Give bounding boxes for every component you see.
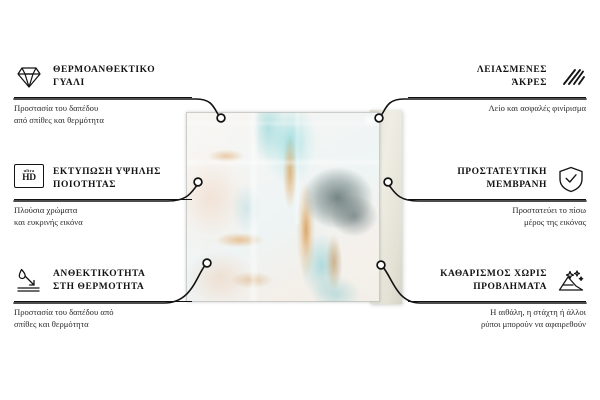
feature-description: Προστασία του δαπέδου από σπίθες και θερ… xyxy=(14,306,192,331)
desc-line-2: μέρος της εικόνας xyxy=(524,217,586,227)
connector-dot xyxy=(377,261,385,269)
title-line-1: ΘΕΡΜΟΑΝΘΕΚΤΙΚΟ xyxy=(53,65,155,75)
desc-line-1: Προστατεύει το πίσω xyxy=(512,205,586,215)
desc-line-2: σπίθες και θερμότητα xyxy=(14,319,89,329)
feature-title: ΛΕΙΑΣΜΕΝΕΣ ΆΚΡΕΣ xyxy=(477,64,547,91)
infographic-canvas: ΘΕΡΜΟΑΝΘΕΚΤΙΚΟ ΓΥΑΛΙ Προστασία του δαπέδ… xyxy=(0,0,600,400)
divider xyxy=(408,199,586,200)
divider xyxy=(408,97,586,98)
feature-high-quality-print: ultra HD ΕΚΤΥΠΩΣΗ ΥΨΗΛΗΣ ΠΟΙΟΤΗΤΑΣ Πλούσ… xyxy=(14,164,192,229)
title-line-2: ΆΚΡΕΣ xyxy=(512,78,547,88)
title-line-1: ΑΝΘΕΚΤΙΚΟΤΗΤΑ xyxy=(53,269,145,279)
feature-header: ΛΕΙΑΣΜΕΝΕΣ ΆΚΡΕΣ xyxy=(408,62,586,92)
feature-header: ΠΡΟΣΤΑΤΕΥΤΙΚΗ ΜΕΜΒΡΑΝΗ xyxy=(408,164,586,194)
title-line-1: ΠΡΟΣΤΑΤΕΥΤΙΚΗ xyxy=(457,167,547,177)
connector-dot xyxy=(375,114,383,122)
divider xyxy=(14,199,192,200)
title-line-2: ΣΤΗ ΘΕΡΜΟΤΗΤΑ xyxy=(53,282,144,292)
easy-cleaning-icon xyxy=(556,266,586,296)
feature-header: ΘΕΡΜΟΑΝΘΕΚΤΙΚΟ ΓΥΑΛΙ xyxy=(14,62,192,92)
polished-edges-icon xyxy=(556,62,586,92)
connector-dot xyxy=(384,178,392,186)
divider xyxy=(14,97,192,98)
title-line-1: ΚΑΘΑΡΙΣΜΟΣ ΧΩΡΙΣ xyxy=(440,269,547,279)
feature-description: Η αιθάλη, η στάχτη ή άλλοι ρύποι μπορούν… xyxy=(408,306,586,331)
title-line-2: ΜΕΜΒΡΑΝΗ xyxy=(486,180,547,190)
desc-line-1: Προστασία του δαπέδου από xyxy=(14,307,114,317)
feature-heat-resistance: ΑΝΘΕΚΤΙΚΟΤΗΤΑ ΣΤΗ ΘΕΡΜΟΤΗΤΑ Προστασία το… xyxy=(14,266,192,331)
diamond-icon xyxy=(14,62,44,92)
title-line-2: ΓΥΑΛΙ xyxy=(53,78,85,88)
feature-header: ΑΝΘΕΚΤΙΚΟΤΗΤΑ ΣΤΗ ΘΕΡΜΟΤΗΤΑ xyxy=(14,266,192,296)
feature-protective-membrane: ΠΡΟΣΤΑΤΕΥΤΙΚΗ ΜΕΜΒΡΑΝΗ Προστατεύει το πί… xyxy=(408,164,586,229)
feature-heat-resistant-glass: ΘΕΡΜΟΑΝΘΕΚΤΙΚΟ ΓΥΑΛΙ Προστασία του δαπέδ… xyxy=(14,62,192,127)
feature-title: ΕΚΤΥΠΩΣΗ ΥΨΗΛΗΣ ΠΟΙΟΤΗΤΑΣ xyxy=(53,166,161,193)
feature-title: ΠΡΟΣΤΑΤΕΥΤΙΚΗ ΜΕΜΒΡΑΝΗ xyxy=(457,166,547,193)
feature-description: Προστασία του δαπέδου από σπίθες και θερ… xyxy=(14,102,192,127)
feature-title: ΘΕΡΜΟΑΝΘΕΚΤΙΚΟ ΓΥΑΛΙ xyxy=(53,64,155,91)
feature-title: ΑΝΘΕΚΤΙΚΟΤΗΤΑ ΣΤΗ ΘΕΡΜΟΤΗΤΑ xyxy=(53,268,145,295)
badge-large-text: HD xyxy=(22,174,36,184)
desc-line-2: από σπίθες και θερμότητα xyxy=(14,115,104,125)
title-line-1: ΛΕΙΑΣΜΕΝΕΣ xyxy=(477,65,547,75)
desc-line-1: Πλούσια χρώματα xyxy=(14,205,77,215)
feature-title: ΚΑΘΑΡΙΣΜΟΣ ΧΩΡΙΣ ΠΡΟΒΛΗΜΑΤΑ xyxy=(440,268,547,295)
connector-dot xyxy=(203,259,211,267)
feature-description: Πλούσια χρώματα και ευκρινής εικόνα xyxy=(14,204,192,229)
feature-header: ΚΑΘΑΡΙΣΜΟΣ ΧΩΡΙΣ ΠΡΟΒΛΗΜΑΤΑ xyxy=(408,266,586,296)
feature-description: Λείο και ασφαλές φινίρισμα xyxy=(408,102,586,114)
divider xyxy=(14,301,192,302)
divider xyxy=(408,301,586,302)
title-line-1: ΕΚΤΥΠΩΣΗ ΥΨΗΛΗΣ xyxy=(53,167,161,177)
desc-line-2: και ευκρινής εικόνα xyxy=(14,217,83,227)
feature-header: ultra HD ΕΚΤΥΠΩΣΗ ΥΨΗΛΗΣ ΠΟΙΟΤΗΤΑΣ xyxy=(14,164,192,194)
connector-dot xyxy=(217,114,225,122)
title-line-2: ΠΡΟΒΛΗΜΑΤΑ xyxy=(473,282,547,292)
desc-line-1: Λείο και ασφαλές φινίρισμα xyxy=(488,103,586,113)
ultra-hd-badge-icon: ultra HD xyxy=(14,164,44,194)
desc-line-1: Προστασία του δαπέδου xyxy=(14,103,98,113)
desc-line-2: ρύποι μπορούν να αφαιρεθούν xyxy=(481,319,586,329)
feature-polished-edges: ΛΕΙΑΣΜΕΝΕΣ ΆΚΡΕΣ Λείο και ασφαλές φινίρι… xyxy=(408,62,586,114)
feature-easy-cleaning: ΚΑΘΑΡΙΣΜΟΣ ΧΩΡΙΣ ΠΡΟΒΛΗΜΑΤΑ Η αιθάλη, η … xyxy=(408,266,586,331)
connector-dot xyxy=(194,178,202,186)
desc-line-1: Η αιθάλη, η στάχτη ή άλλοι xyxy=(490,307,586,317)
feature-description: Προστατεύει το πίσω μέρος της εικόνας xyxy=(408,204,586,229)
heat-resistant-surface-icon xyxy=(14,266,44,296)
title-line-2: ΠΟΙΟΤΗΤΑΣ xyxy=(53,180,116,190)
shield-check-icon xyxy=(556,164,586,194)
